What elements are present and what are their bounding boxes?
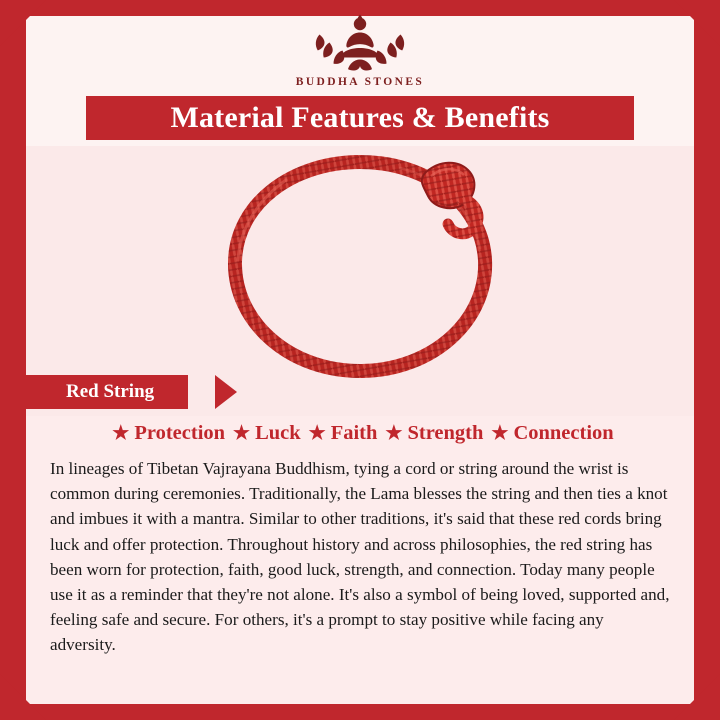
keyword-faith: ★ Faith xyxy=(303,422,378,445)
keyword-label: Strength xyxy=(407,422,483,445)
brand-name: BUDDHA STONES xyxy=(296,76,424,88)
keyword-strength: ★ Strength xyxy=(379,422,483,445)
brand-logo: BUDDHA STONES xyxy=(0,12,720,88)
benefit-keywords-row: ★ Protection ★ Luck ★ Faith ★ Strength ★… xyxy=(32,422,688,445)
frame-right-bar xyxy=(694,0,720,720)
page-title: Material Features & Benefits xyxy=(170,101,549,135)
keyword-protection: ★ Protection xyxy=(106,422,225,445)
keyword-label: Connection xyxy=(513,422,613,445)
star-icon: ★ xyxy=(491,424,508,443)
corner-notch-bottom-left xyxy=(0,674,46,720)
keyword-label: Protection xyxy=(134,422,225,445)
corner-notch-bottom-right xyxy=(674,674,720,720)
product-image xyxy=(26,148,694,386)
star-icon: ★ xyxy=(309,424,326,443)
star-icon: ★ xyxy=(112,424,129,443)
description-paragraph: In lineages of Tibetan Vajrayana Buddhis… xyxy=(26,456,696,658)
product-name-label: Red String xyxy=(66,381,154,403)
keyword-label: Luck xyxy=(255,422,301,445)
keyword-connection: ★ Connection xyxy=(485,422,613,445)
keyword-label: Faith xyxy=(331,422,378,445)
red-braided-string-bracelet-icon xyxy=(190,148,530,386)
star-icon: ★ xyxy=(233,424,250,443)
frame-bottom-bar xyxy=(0,704,720,720)
frame-left-bar xyxy=(0,0,26,720)
ribbon-tail-shape xyxy=(215,375,237,409)
star-icon: ★ xyxy=(385,424,402,443)
title-banner: Material Features & Benefits xyxy=(86,96,634,140)
keyword-luck: ★ Luck xyxy=(227,422,301,445)
infographic-page: BUDDHA STONES Material Features & Benefi… xyxy=(0,0,720,720)
lotus-meditation-figure-icon xyxy=(306,12,414,74)
product-name-ribbon: Red String xyxy=(26,375,188,409)
